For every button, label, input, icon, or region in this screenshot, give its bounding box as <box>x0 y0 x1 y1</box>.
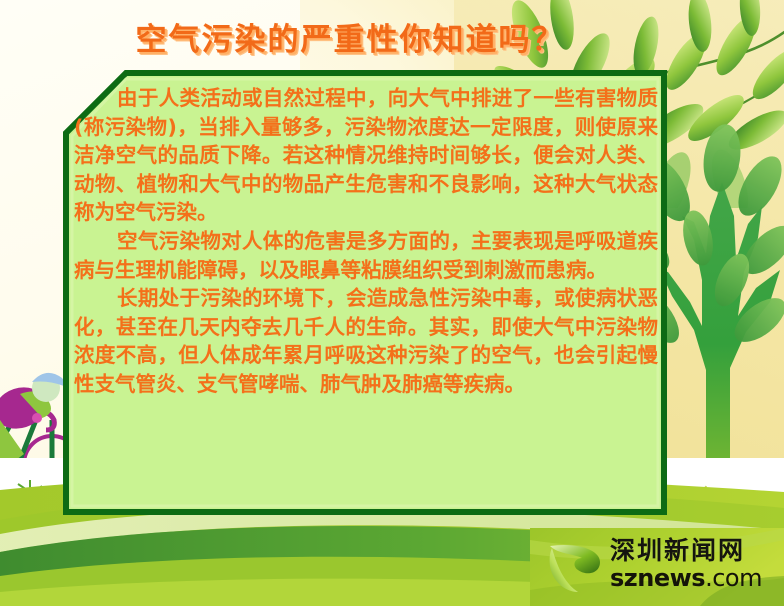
paragraph-3: 长期处于污染的环境下，会造成急性污染中毒，或使病状恶化，甚至在几天内夺去几千人的… <box>74 284 658 398</box>
logo-domain-name: sznews <box>610 564 705 592</box>
paragraph-1: 由于人类活动或自然过程中，向大气中排进了一些有害物质(称污染物)，当排入量够多，… <box>74 84 658 227</box>
logo-domain: sznews.com <box>610 565 780 592</box>
paragraph-2: 空气污染物对人体的危害是多方面的，主要表现是呼吸道疾病与生理机能障碍，以及眼鼻等… <box>74 227 658 284</box>
logo-chinese-name: 深圳新闻网 <box>610 536 780 565</box>
logo-domain-suffix: .com <box>705 564 762 592</box>
page-title: 空气污染的严重性你知道吗？ <box>0 14 700 59</box>
sznews-logo[interactable]: 深圳新闻网 sznews.com <box>530 528 784 606</box>
content-box: 由于人类活动或自然过程中，向大气中排进了一些有害物质(称污染物)，当排入量够多，… <box>62 70 668 516</box>
poster-canvas: 空气污染的严重性你知道吗？ 由于人类活动或自然过程中，向大气中排进了一些有害物质… <box>0 0 784 606</box>
logo-text-block: 深圳新闻网 sznews.com <box>610 536 780 592</box>
leaf-swirl-icon <box>544 540 604 594</box>
content-box-text: 由于人类活动或自然过程中，向大气中排进了一些有害物质(称污染物)，当排入量够多，… <box>74 84 658 504</box>
